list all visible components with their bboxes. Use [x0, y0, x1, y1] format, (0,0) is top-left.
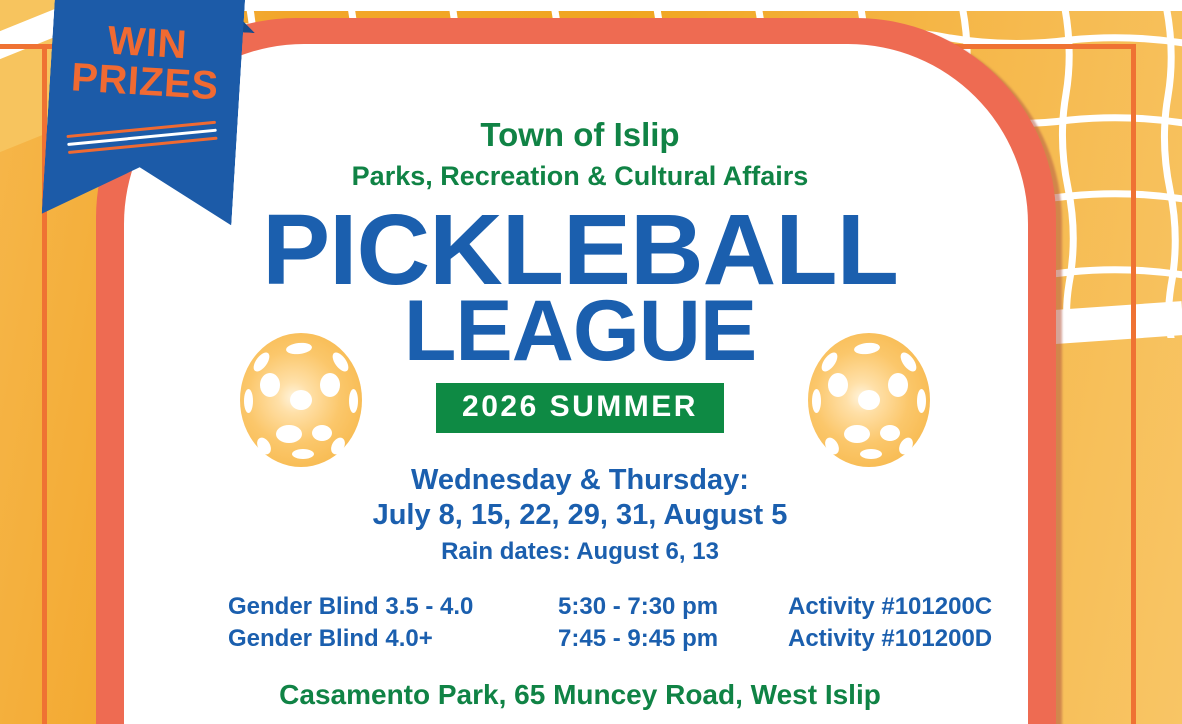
organization-name: Town of Islip [150, 118, 1010, 151]
frame-line-vertical-right [1131, 44, 1136, 724]
pickleball-league-flyer: WIN PRIZES [0, 0, 1182, 724]
venue-address: Casamento Park, 65 Muncey Road, West Isl… [150, 681, 1010, 709]
department-name: Parks, Recreation & Cultural Affairs [150, 163, 1010, 190]
page-title: PICKLEBALL [141, 204, 1018, 296]
schedule-dates: July 8, 15, 22, 29, 31, August 5 [150, 498, 1010, 533]
ribbon-stripe-orange-bottom [68, 137, 218, 154]
schedule-rain-dates: Rain dates: August 6, 13 [150, 538, 1010, 567]
division-activity-code: Activity #101200C [788, 591, 1010, 623]
divisions-table: Gender Blind 3.5 - 4.0 5:30 - 7:30 pm Ac… [150, 591, 1010, 656]
table-row: Gender Blind 3.5 - 4.0 5:30 - 7:30 pm Ac… [150, 591, 1010, 623]
pickleball-left [240, 333, 362, 467]
table-row: Gender Blind 4.0+ 7:45 - 9:45 pm Activit… [150, 623, 1010, 655]
division-level: Gender Blind 4.0+ [150, 623, 558, 655]
division-time: 7:45 - 9:45 pm [558, 623, 788, 655]
division-activity-code: Activity #101200D [788, 623, 1010, 655]
ribbon-line-2: PRIZES [49, 57, 241, 108]
division-time: 5:30 - 7:30 pm [558, 591, 788, 623]
schedule-days-heading: Wednesday & Thursday: [150, 463, 1010, 498]
division-level: Gender Blind 3.5 - 4.0 [150, 591, 558, 623]
pickleball-right [808, 333, 930, 467]
season-badge: 2026 SUMMER [436, 383, 724, 433]
